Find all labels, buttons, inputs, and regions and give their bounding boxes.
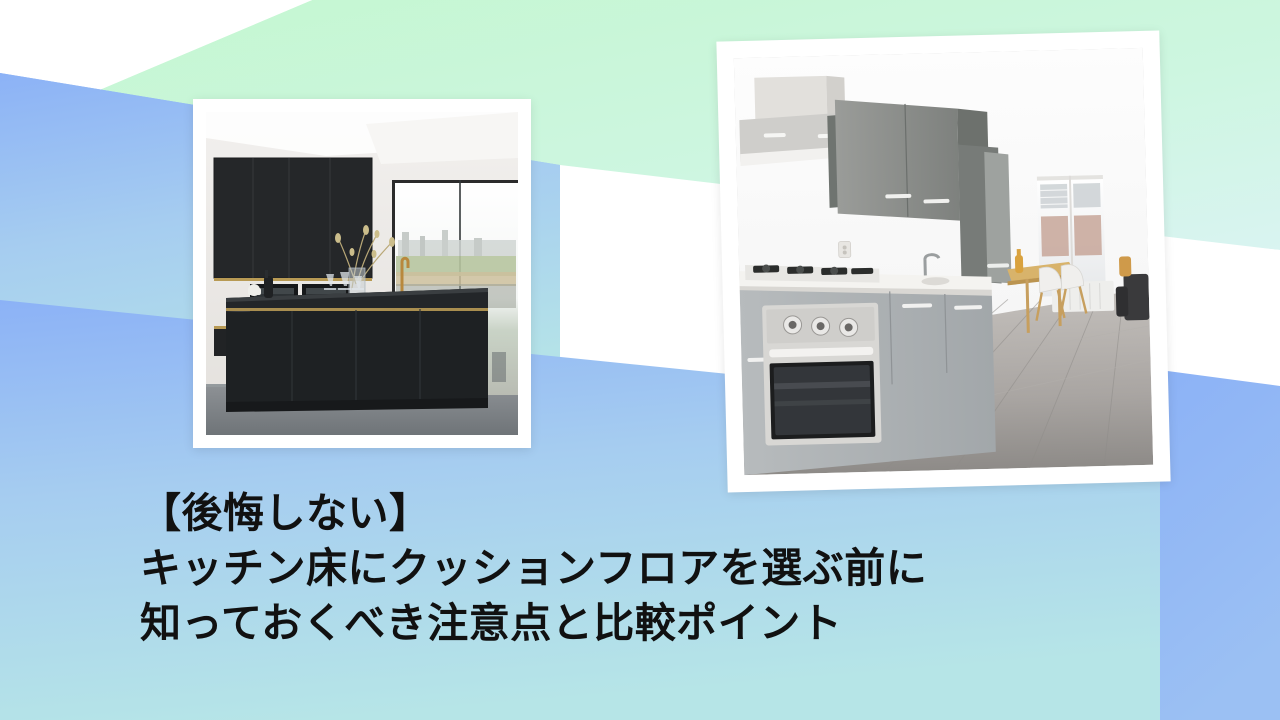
headline-line-2: キッチン床にクッションフロアを選ぶ前に [140, 541, 1160, 596]
kitchen-photo-dark-card [193, 99, 531, 448]
headline-line-3: 知っておくべき注意点と比較ポイント [140, 596, 1160, 651]
kitchen-photo-grey-card [716, 30, 1170, 492]
kitchen-photo-dark [206, 112, 518, 435]
kitchen-photo-grey-illustration [734, 48, 1153, 475]
kitchen-photo-grey [734, 48, 1153, 475]
blue-diagonal-bottom-right [1160, 370, 1280, 720]
headline: 【後悔しない】 キッチン床にクッションフロアを選ぶ前に 知っておくべき注意点と比… [140, 486, 1160, 651]
thumbnail-canvas: 【後悔しない】 キッチン床にクッションフロアを選ぶ前に 知っておくべき注意点と比… [0, 0, 1280, 720]
headline-line-1: 【後悔しない】 [140, 486, 1160, 541]
kitchen-photo-dark-illustration [206, 112, 518, 435]
